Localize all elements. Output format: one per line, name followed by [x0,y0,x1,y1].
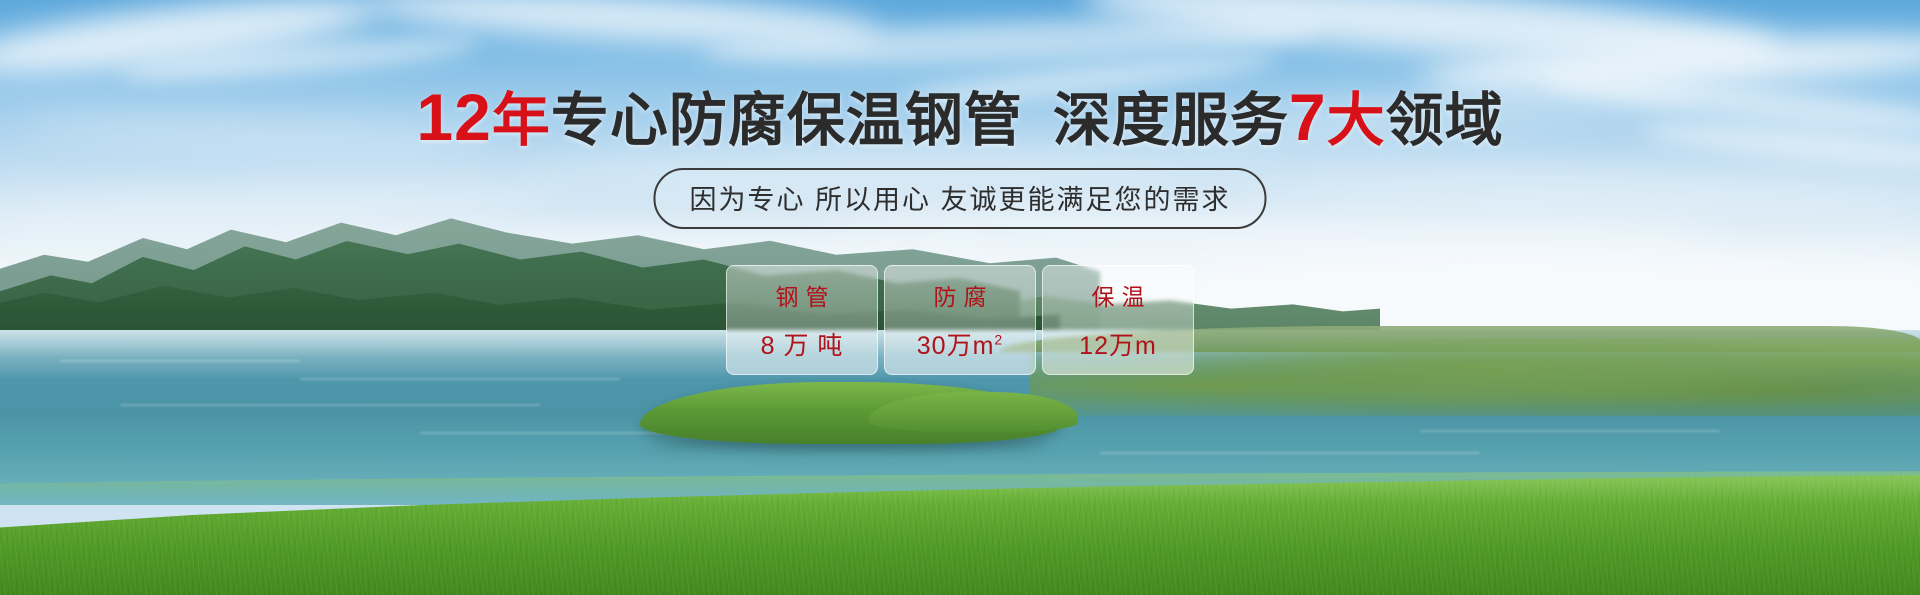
banner-content: 12年专心防腐保温钢管深度服务7大领域 因为专心 所以用心 友诚更能满足您的需求… [0,0,1920,595]
stat-card-value-main: 12万m [1079,332,1157,360]
hero-banner: 12年专心防腐保温钢管深度服务7大领域 因为专心 所以用心 友诚更能满足您的需求… [0,0,1920,595]
stat-card-value-main: 30万m [917,332,995,360]
stat-card-value: 8 万 吨 [761,326,844,362]
headline-main-phrase: 专心防腐保温钢管 [551,88,1023,153]
banner-subtitle-text: 因为专心 所以用心 友诚更能满足您的需求 [689,185,1230,215]
stat-card-value: 12万m [1079,326,1157,362]
stat-card-label: 防腐 [927,278,994,312]
stat-card-anticorrosion[interactable]: 防腐 30万m2 [884,265,1036,375]
stat-cards-group: 钢管 8 万 吨 防腐 30万m2 保温 12万m [726,265,1194,375]
headline-years-number: 12 [416,80,491,154]
banner-subtitle-pill: 因为专心 所以用心 友诚更能满足您的需求 [653,168,1266,229]
headline-fields-number: 7 [1289,80,1327,154]
stat-card-value-superscript: 2 [994,332,1003,348]
stat-card-steel-pipe[interactable]: 钢管 8 万 吨 [726,265,878,375]
banner-headline: 12年专心防腐保温钢管深度服务7大领域 [0,84,1920,150]
stat-card-insulation[interactable]: 保温 12万m [1042,265,1194,375]
headline-years-unit: 年 [492,88,551,153]
stat-card-value: 30万m2 [917,326,1003,362]
headline-service-phrase: 深度服务 [1053,88,1289,153]
stat-card-label: 钢管 [769,278,836,312]
headline-fields-unit: 大 [1327,88,1386,153]
stat-card-value-main: 8 万 吨 [761,332,844,360]
stat-card-label: 保温 [1085,278,1152,312]
headline-fields-word: 领域 [1386,88,1504,153]
